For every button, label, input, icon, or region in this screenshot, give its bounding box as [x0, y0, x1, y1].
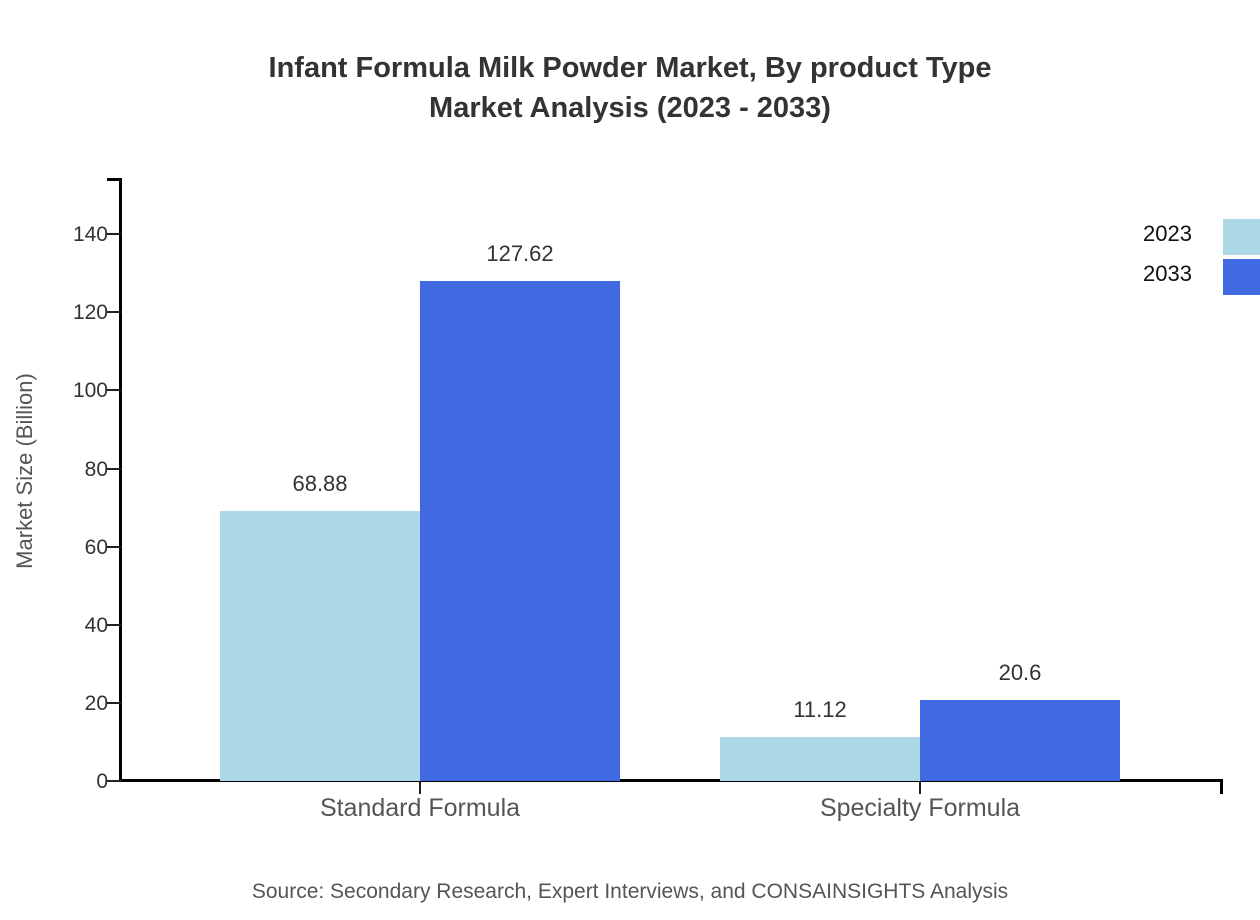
- y-tick-20: [107, 702, 121, 704]
- bar-value-specialty-formula-2033: 20.6: [910, 662, 1130, 684]
- legend-item-2023[interactable]: 2023: [1060, 215, 1260, 253]
- y-tick-80: [107, 468, 121, 470]
- bar-specialty-formula-2023[interactable]: [720, 737, 920, 781]
- bar-value-standard-formula-2033: 127.62: [410, 243, 630, 265]
- bar-specialty-formula-2033[interactable]: [920, 700, 1120, 781]
- y-tick-0: [107, 780, 121, 782]
- y-tick-label-20: 20: [0, 693, 108, 714]
- bar-standard-formula-2023[interactable]: [220, 511, 420, 781]
- x-tick-label-standard-formula: Standard Formula: [210, 792, 630, 824]
- y-tick-label-0: 0: [0, 771, 108, 792]
- bar-standard-formula-2033[interactable]: [420, 281, 620, 781]
- bar-value-specialty-formula-2023: 11.12: [710, 699, 930, 721]
- bar-value-standard-formula-2023: 68.88: [210, 473, 430, 495]
- chart-title-line-2: Market Analysis (2023 - 2033): [0, 88, 1260, 128]
- x-axis-end-cap: [1220, 779, 1223, 794]
- legend-item-2033[interactable]: 2033: [1060, 255, 1260, 293]
- chart-title-line-1: Infant Formula Milk Powder Market, By pr…: [0, 48, 1260, 88]
- bar-chart: Infant Formula Milk Powder Market, By pr…: [0, 0, 1260, 920]
- legend-swatch-2023: [1223, 219, 1260, 255]
- y-tick-40: [107, 624, 121, 626]
- x-tick-label-specialty-formula: Specialty Formula: [710, 792, 1130, 824]
- chart-title: Infant Formula Milk Powder Market, By pr…: [0, 48, 1260, 128]
- y-tick-label-140: 140: [0, 224, 108, 245]
- y-tick-label-100: 100: [0, 380, 108, 401]
- plot-area: 68.88 127.62 11.12 20.6: [121, 178, 1222, 781]
- y-tick-120: [107, 311, 121, 313]
- y-tick-60: [107, 546, 121, 548]
- y-tick-140: [107, 233, 121, 235]
- y-tick-label-80: 80: [0, 459, 108, 480]
- chart-legend: 2023 2033: [1060, 215, 1260, 305]
- y-tick-label-40: 40: [0, 615, 108, 636]
- legend-label-2023: 2023: [1060, 223, 1192, 245]
- chart-source-note: Source: Secondary Research, Expert Inter…: [0, 878, 1260, 906]
- legend-swatch-2033: [1223, 259, 1260, 295]
- legend-label-2033: 2033: [1060, 263, 1192, 285]
- y-tick-label-120: 120: [0, 302, 108, 323]
- y-tick-100: [107, 389, 121, 391]
- y-tick-label-60: 60: [0, 537, 108, 558]
